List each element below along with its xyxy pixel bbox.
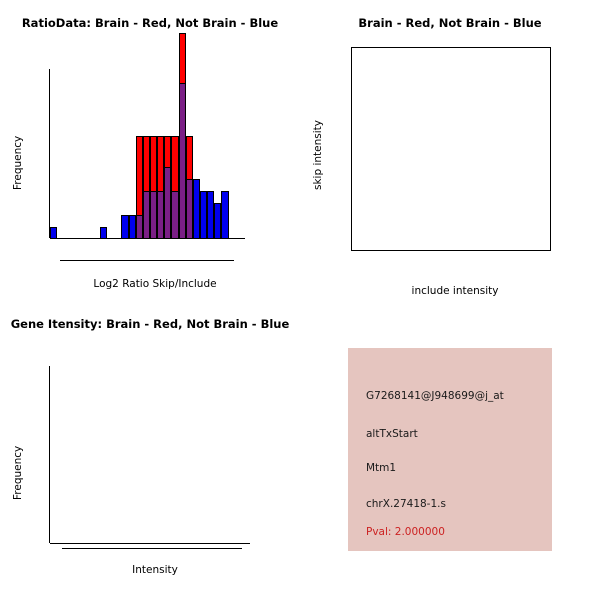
ratio-histogram-x-axis [60, 260, 234, 261]
bar-not-brain-blue [100, 227, 107, 239]
info-event-type: altTxStart [366, 428, 418, 440]
panel-intensity-scatter: Brain - Red, Not Brain - Blue skip inten… [300, 0, 600, 300]
bar-overlap-purple [150, 191, 157, 239]
bar-overlap-purple [157, 191, 164, 239]
bar-not-brain-blue [207, 191, 214, 239]
ratio-histogram-plot-area [50, 30, 250, 239]
bar-not-brain-blue [221, 191, 228, 239]
gene-histogram-plot-area [50, 340, 250, 544]
bar-not-brain-blue [50, 227, 57, 239]
info-probe-id: G7268141@J948699@j_at [366, 390, 504, 402]
gene-histogram-x-axis [62, 548, 242, 549]
bar-not-brain-blue [121, 215, 128, 239]
figure-canvas: RatioData: Brain - Red, Not Brain - Blue… [0, 0, 600, 600]
ratio-histogram-xlabel: Log2 Ratio Skip/Include [50, 278, 260, 290]
bar-overlap-purple [171, 191, 178, 239]
scatter-points [352, 48, 550, 250]
bar-overlap-purple [179, 83, 186, 239]
panel-ratio-histogram: RatioData: Brain - Red, Not Brain - Blue… [0, 0, 300, 300]
gene-histogram-title: Gene Itensity: Brain - Red, Not Brain - … [0, 317, 300, 331]
gene-histogram-bars [50, 340, 250, 544]
info-gene-symbol: Mtm1 [366, 462, 396, 474]
gene-histogram-ylabel: Frequency [12, 446, 24, 500]
scatter-ylabel: skip intensity [312, 120, 324, 190]
panel-gene-histogram: Gene Itensity: Brain - Red, Not Brain - … [0, 300, 340, 600]
scatter-xlabel: include intensity [345, 285, 565, 297]
ratio-histogram-bars [50, 30, 250, 239]
gene-info-panel: G7268141@J948699@j_at altTxStart Mtm1 ch… [348, 348, 552, 551]
ratio-histogram-ylabel: Frequency [12, 136, 24, 190]
info-pval: Pval: 2.000000 [366, 526, 445, 538]
gene-histogram-xlabel: Intensity [50, 564, 260, 576]
bar-overlap-purple [136, 215, 143, 239]
bar-overlap-purple [143, 191, 150, 239]
bar-not-brain-blue [193, 179, 200, 239]
ratio-histogram-title: RatioData: Brain - Red, Not Brain - Blue [0, 16, 300, 30]
scatter-title: Brain - Red, Not Brain - Blue [300, 16, 600, 30]
bar-not-brain-blue [129, 215, 136, 239]
bar-overlap-purple [164, 167, 171, 239]
scatter-plot-area [352, 48, 550, 250]
bar-not-brain-blue [214, 203, 221, 239]
info-locus: chrX.27418-1.s [366, 498, 446, 510]
bar-overlap-purple [186, 179, 193, 239]
bar-not-brain-blue [200, 191, 207, 239]
